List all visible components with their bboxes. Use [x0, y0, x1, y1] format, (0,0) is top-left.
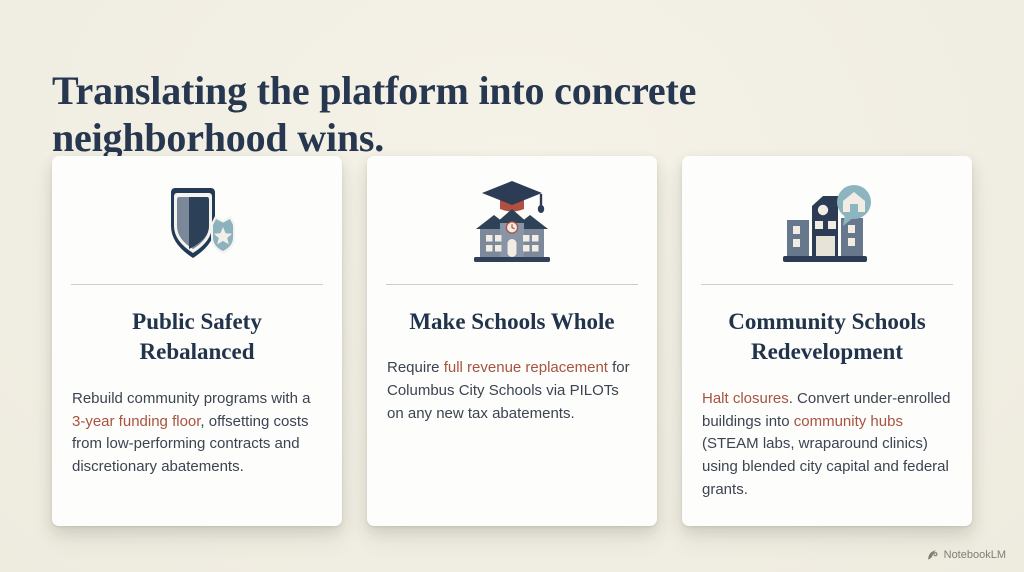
slide-canvas: Translating the platform into concrete n…	[0, 0, 1024, 572]
card-body: Rebuild community programs with a 3-year…	[72, 388, 322, 479]
accent-phrase: full revenue replacement	[444, 359, 608, 376]
shield-badge-icon	[72, 176, 322, 272]
card-community-schools[interactable]: Community Schools Redevelopment Halt clo…	[682, 156, 972, 526]
body-text: Require	[387, 359, 444, 376]
card-make-schools-whole[interactable]: Make Schools Whole Require full revenue …	[367, 156, 657, 526]
community-buildings-icon	[702, 176, 952, 272]
card-body: Halt closures. Convert under-enrolled bu…	[702, 388, 952, 502]
body-text: Rebuild community programs with a	[72, 390, 310, 407]
accent-phrase: Halt closures	[702, 390, 789, 407]
accent-phrase: 3-year funding floor	[72, 413, 200, 430]
card-divider	[701, 284, 953, 285]
card-title: Public Safety Rebalanced	[72, 307, 322, 368]
card-row: Public Safety Rebalanced Rebuild communi…	[52, 156, 972, 526]
card-title: Make Schools Whole	[405, 307, 618, 337]
school-graduation-icon	[387, 176, 637, 272]
card-body: Require full revenue replacement for Col…	[387, 357, 637, 425]
accent-phrase: community hubs	[794, 413, 903, 430]
notebooklm-watermark: NotebookLM	[927, 549, 1006, 561]
page-title: Translating the platform into concrete n…	[52, 67, 792, 161]
card-divider	[71, 284, 323, 285]
card-divider	[386, 284, 638, 285]
card-title: Community Schools Redevelopment	[702, 307, 952, 368]
card-public-safety[interactable]: Public Safety Rebalanced Rebuild communi…	[52, 156, 342, 526]
notebooklm-label: NotebookLM	[944, 549, 1006, 561]
body-text: (STEAM labs, wraparound clinics) using b…	[702, 435, 949, 498]
notebooklm-logo-icon	[927, 549, 939, 561]
